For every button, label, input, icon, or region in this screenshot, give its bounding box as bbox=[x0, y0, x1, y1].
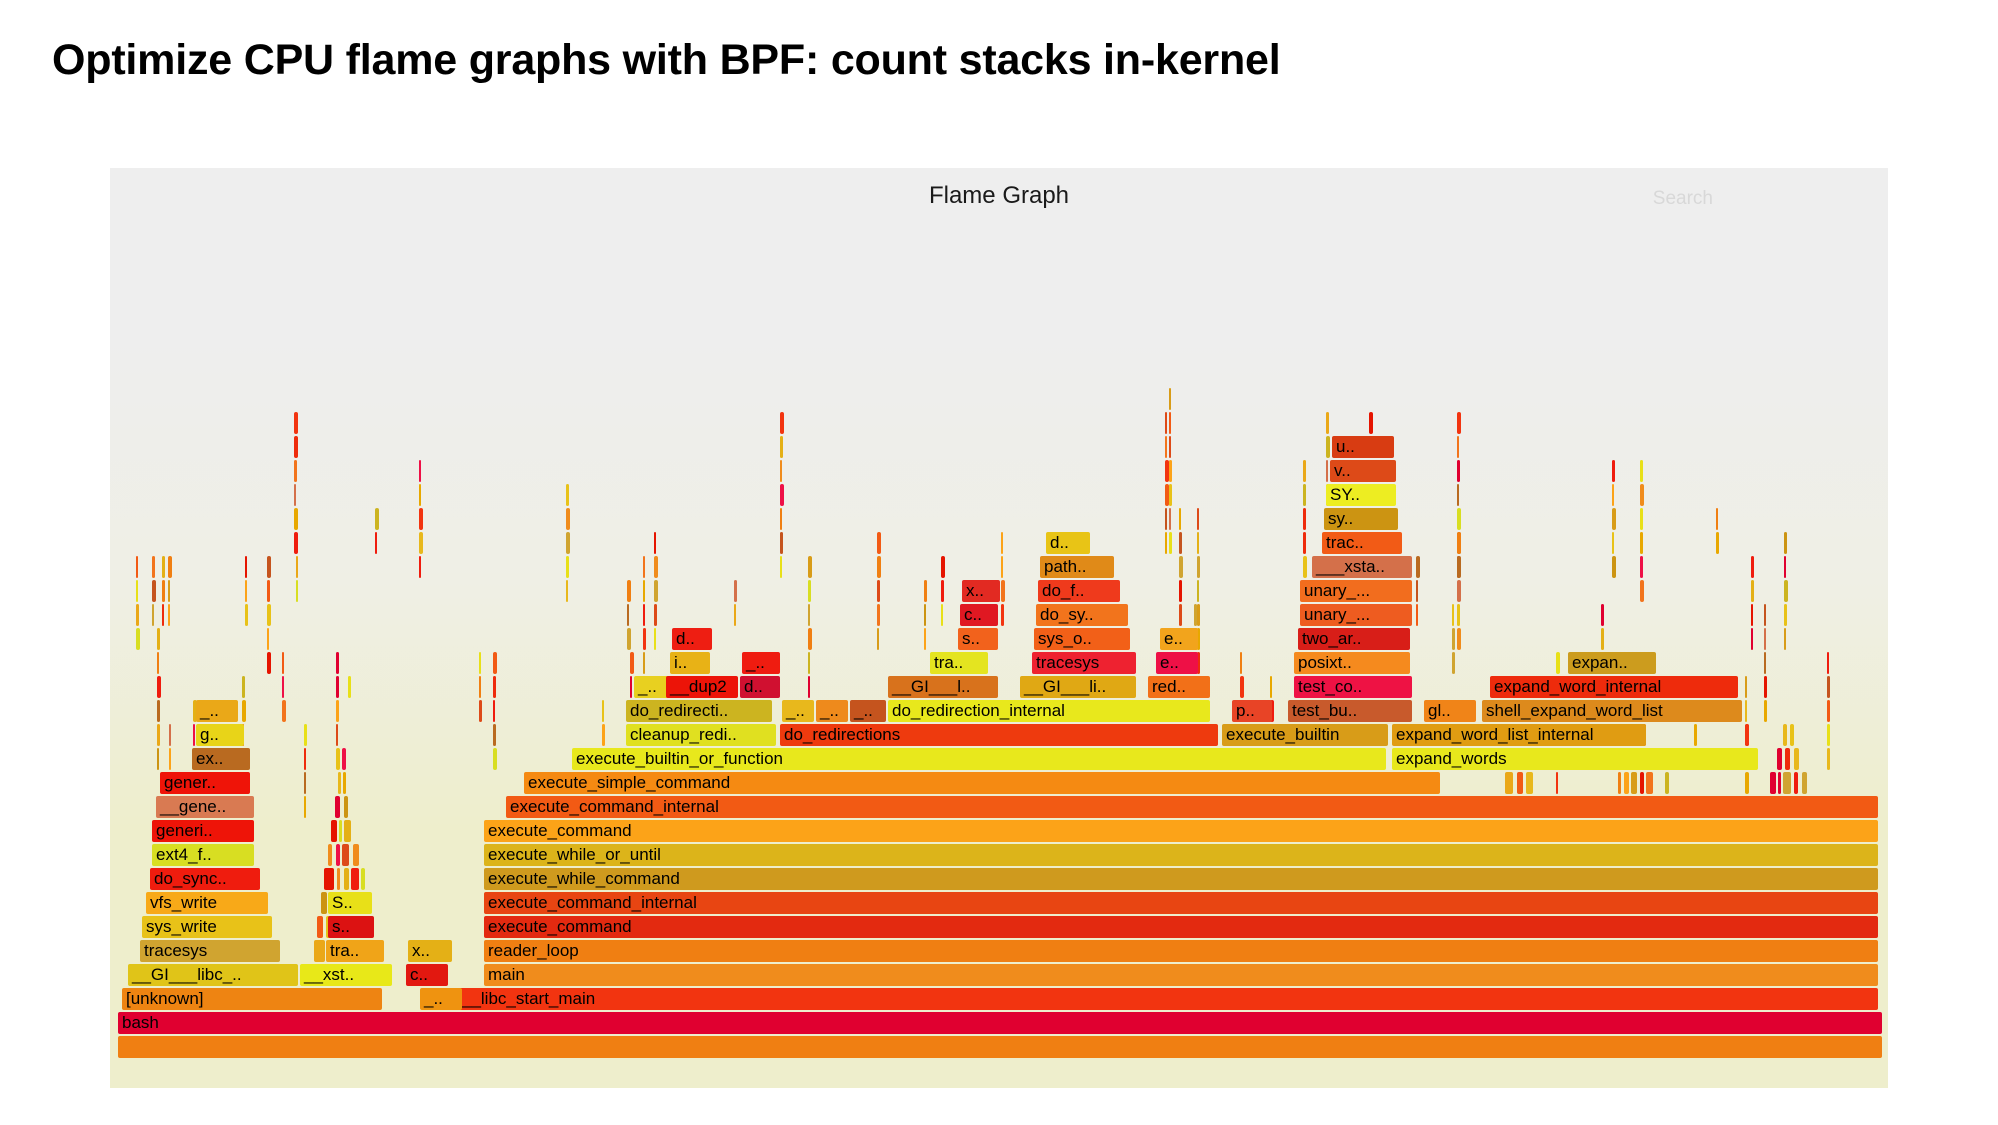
flame-frame-sliver[interactable] bbox=[877, 532, 881, 554]
flame-frame-sliver[interactable] bbox=[1169, 484, 1172, 506]
flame-frame-sliver[interactable] bbox=[627, 628, 631, 650]
flame-frame-sliver[interactable] bbox=[780, 484, 784, 506]
flame-frame-sliver[interactable] bbox=[479, 652, 481, 674]
flame-frame-sliver[interactable] bbox=[566, 508, 570, 530]
flame-frame-sliver[interactable] bbox=[1270, 676, 1272, 698]
flame-frame-sliver[interactable] bbox=[162, 580, 165, 602]
flame-frame-sliver[interactable] bbox=[1457, 628, 1461, 650]
flame-frame-sliver[interactable] bbox=[294, 412, 298, 434]
flame-frame-sliver[interactable] bbox=[1197, 604, 1200, 626]
flame-frame-sliver[interactable] bbox=[152, 604, 154, 626]
flame-frame-sliver[interactable] bbox=[1646, 772, 1653, 794]
flame-frame-sliver[interactable] bbox=[1556, 652, 1560, 674]
flame-frame[interactable]: tra.. bbox=[930, 652, 988, 674]
flame-frame-sliver[interactable] bbox=[336, 652, 339, 674]
flame-frame-sliver[interactable] bbox=[877, 604, 880, 626]
flame-frame-sliver[interactable] bbox=[1179, 556, 1183, 578]
flame-frame-sliver[interactable] bbox=[1640, 556, 1643, 578]
flame-frame-sliver[interactable] bbox=[1001, 604, 1004, 626]
flame-frame-sliver[interactable] bbox=[304, 796, 306, 818]
flame-frame[interactable]: c.. bbox=[406, 964, 448, 986]
flame-frame-sliver[interactable] bbox=[780, 460, 782, 482]
flame-frame[interactable]: execute_while_or_until bbox=[484, 844, 1878, 866]
flame-frame-sliver[interactable] bbox=[627, 580, 631, 602]
flame-frame-sliver[interactable] bbox=[419, 484, 421, 506]
flame-frame-sliver[interactable] bbox=[1751, 604, 1753, 626]
flame-frame-sliver[interactable] bbox=[602, 724, 605, 746]
flame-frame-sliver[interactable] bbox=[1612, 556, 1616, 578]
flame-frame-sliver[interactable] bbox=[136, 580, 138, 602]
flame-frame[interactable]: tracesys bbox=[1032, 652, 1136, 674]
flame-frame[interactable]: tra.. bbox=[326, 940, 384, 962]
flame-frame-sliver[interactable] bbox=[1745, 700, 1747, 722]
flame-frame-sliver[interactable] bbox=[294, 460, 297, 482]
flame-frame-sliver[interactable] bbox=[1303, 508, 1306, 530]
flame-frame-sliver[interactable] bbox=[336, 844, 340, 866]
flame-frame[interactable]: expand_word_internal bbox=[1490, 676, 1738, 698]
flame-frame-sliver[interactable] bbox=[282, 700, 286, 722]
flame-frame-sliver[interactable] bbox=[1169, 436, 1171, 458]
flame-frame-sliver[interactable] bbox=[1526, 772, 1533, 794]
flame-frame-sliver[interactable] bbox=[1665, 772, 1669, 794]
flame-frame-sliver[interactable] bbox=[566, 580, 568, 602]
flame-frame-sliver[interactable] bbox=[1303, 460, 1306, 482]
flame-frame-sliver[interactable] bbox=[1783, 772, 1791, 794]
flame-frame-sliver[interactable] bbox=[242, 676, 245, 698]
flame-frame-sliver[interactable] bbox=[168, 580, 170, 602]
flame-frame[interactable]: _.. bbox=[850, 700, 886, 722]
flame-frame-sliver[interactable] bbox=[1601, 628, 1604, 650]
flame-frame-sliver[interactable] bbox=[780, 412, 784, 434]
flame-frame-sliver[interactable] bbox=[344, 868, 349, 890]
flame-frame-sliver[interactable] bbox=[282, 676, 284, 698]
flame-frame-sliver[interactable] bbox=[734, 604, 736, 626]
flame-frame-sliver[interactable] bbox=[1770, 772, 1776, 794]
flame-frame-sliver[interactable] bbox=[1612, 484, 1614, 506]
flame-frame-sliver[interactable] bbox=[1001, 556, 1003, 578]
flame-frame-sliver[interactable] bbox=[1194, 604, 1197, 626]
flame-frame-sliver[interactable] bbox=[338, 772, 341, 794]
flame-frame-sliver[interactable] bbox=[1640, 484, 1644, 506]
flame-frame[interactable]: do_sy.. bbox=[1036, 604, 1128, 626]
flame-frame[interactable]: s.. bbox=[958, 628, 998, 650]
flame-frame[interactable]: unary_... bbox=[1300, 580, 1412, 602]
flame-frame[interactable]: sys_o.. bbox=[1034, 628, 1130, 650]
flame-frame-sliver[interactable] bbox=[493, 700, 495, 722]
flame-frame-sliver[interactable] bbox=[1764, 652, 1766, 674]
flame-frame-sliver[interactable] bbox=[336, 676, 339, 698]
flame-frame-sliver[interactable] bbox=[1165, 412, 1167, 434]
flame-frame[interactable]: c.. bbox=[960, 604, 998, 626]
flame-frame-sliver[interactable] bbox=[1745, 676, 1747, 698]
flame-frame[interactable]: main bbox=[484, 964, 1878, 986]
flame-frame-sliver[interactable] bbox=[419, 532, 423, 554]
flame-frame-sliver[interactable] bbox=[479, 700, 482, 722]
flame-frame-sliver[interactable] bbox=[654, 556, 658, 578]
flame-frame-sliver[interactable] bbox=[1179, 532, 1182, 554]
flame-frame-sliver[interactable] bbox=[1452, 604, 1454, 626]
flame-frame[interactable]: d.. bbox=[672, 628, 712, 650]
flame-frame-sliver[interactable] bbox=[282, 652, 284, 674]
flame-frame-sliver[interactable] bbox=[337, 868, 340, 890]
flame-frame-sliver[interactable] bbox=[267, 628, 269, 650]
flame-frame-sliver[interactable] bbox=[643, 652, 645, 674]
flame-frame-sliver[interactable] bbox=[877, 556, 881, 578]
flame-frame[interactable]: ex.. bbox=[192, 748, 250, 770]
flame-frame[interactable]: posixt.. bbox=[1294, 652, 1410, 674]
flame-frame-sliver[interactable] bbox=[1751, 628, 1753, 650]
flame-frame-sliver[interactable] bbox=[242, 700, 246, 722]
flame-frame-sliver[interactable] bbox=[339, 820, 342, 842]
flame-frame-sliver[interactable] bbox=[630, 676, 632, 698]
flame-frame-sliver[interactable] bbox=[1457, 412, 1461, 434]
flame-frame-sliver[interactable] bbox=[304, 772, 306, 794]
flame-frame-sliver[interactable] bbox=[1640, 532, 1643, 554]
flame-frame-sliver[interactable] bbox=[162, 604, 164, 626]
flame-frame-sliver[interactable] bbox=[168, 604, 170, 626]
flame-frame-sliver[interactable] bbox=[294, 532, 298, 554]
flame-frame-sliver[interactable] bbox=[493, 748, 497, 770]
flame-frame-sliver[interactable] bbox=[1416, 604, 1418, 626]
flame-frame-sliver[interactable] bbox=[924, 628, 926, 650]
flame-frame-sliver[interactable] bbox=[1640, 772, 1644, 794]
flame-frame[interactable]: do_redirecti.. bbox=[626, 700, 772, 722]
flame-frame-sliver[interactable] bbox=[1197, 508, 1199, 530]
flame-frame[interactable]: x.. bbox=[962, 580, 1000, 602]
flame-frame-sliver[interactable] bbox=[1457, 604, 1460, 626]
flame-frame-sliver[interactable] bbox=[294, 436, 298, 458]
flame-frame[interactable]: expan.. bbox=[1568, 652, 1656, 674]
flame-frame[interactable]: sys_write bbox=[142, 916, 272, 938]
flame-frame[interactable]: _.. bbox=[782, 700, 814, 722]
flame-frame-sliver[interactable] bbox=[1165, 436, 1167, 458]
flame-frame-sliver[interactable] bbox=[1612, 508, 1616, 530]
flame-frame-sliver[interactable] bbox=[157, 724, 160, 746]
flame-frame[interactable]: u.. bbox=[1332, 436, 1394, 458]
flame-frame-sliver[interactable] bbox=[1784, 604, 1787, 626]
flame-frame-sliver[interactable] bbox=[136, 604, 139, 626]
flame-frame-sliver[interactable] bbox=[1716, 532, 1719, 554]
flame-frame-sliver[interactable] bbox=[1179, 508, 1181, 530]
flame-frame[interactable]: reader_loop bbox=[484, 940, 1878, 962]
flame-frame-sliver[interactable] bbox=[1751, 580, 1754, 602]
flame-frame-sliver[interactable] bbox=[1240, 676, 1244, 698]
flame-frame-sliver[interactable] bbox=[1416, 580, 1418, 602]
flame-frame[interactable]: execute_while_command bbox=[484, 868, 1878, 890]
flame-frame[interactable]: ___xsta.. bbox=[1312, 556, 1412, 578]
flame-frame-sliver[interactable] bbox=[1179, 580, 1182, 602]
flame-frame-sliver[interactable] bbox=[1169, 532, 1172, 554]
flame-frame-sliver[interactable] bbox=[1457, 556, 1461, 578]
flame-frame-sliver[interactable] bbox=[1197, 580, 1199, 602]
flame-frame-sliver[interactable] bbox=[1785, 748, 1790, 770]
flame-frame-sliver[interactable] bbox=[351, 868, 359, 890]
flame-frame-sliver[interactable] bbox=[566, 532, 570, 554]
flame-frame-sliver[interactable] bbox=[941, 580, 944, 602]
flame-frame-sliver[interactable] bbox=[1827, 748, 1830, 770]
flame-frame-sliver[interactable] bbox=[1416, 556, 1420, 578]
flame-frame-sliver[interactable] bbox=[1517, 772, 1523, 794]
flame-frame-sliver[interactable] bbox=[294, 484, 296, 506]
flame-frame-sliver[interactable] bbox=[152, 556, 155, 578]
flame-frame[interactable]: execute_command bbox=[484, 916, 1878, 938]
flame-frame[interactable]: __GI___libc_.. bbox=[128, 964, 298, 986]
flame-frame-sliver[interactable] bbox=[336, 724, 338, 746]
flame-frame-sliver[interactable] bbox=[118, 1036, 1882, 1058]
flame-frame[interactable]: S.. bbox=[328, 892, 372, 914]
flame-frame-sliver[interactable] bbox=[1624, 772, 1629, 794]
flame-frame-sliver[interactable] bbox=[602, 700, 604, 722]
flame-frame[interactable]: do_redirection_internal bbox=[888, 700, 1210, 722]
flame-frame-sliver[interactable] bbox=[419, 508, 423, 530]
flame-frame[interactable]: expand_words bbox=[1392, 748, 1758, 770]
flame-frame[interactable]: execute_builtin_or_function bbox=[572, 748, 1386, 770]
flame-frame[interactable]: vfs_write bbox=[146, 892, 268, 914]
flame-frame-sliver[interactable] bbox=[169, 724, 171, 746]
flame-frame[interactable]: __libc_start_main bbox=[458, 988, 1878, 1010]
flame-frame[interactable]: do_f.. bbox=[1038, 580, 1120, 602]
flame-frame-sliver[interactable] bbox=[1457, 532, 1461, 554]
flame-frame-sliver[interactable] bbox=[1197, 556, 1200, 578]
flame-frame-sliver[interactable] bbox=[314, 940, 325, 962]
flame-frame[interactable]: sy.. bbox=[1324, 508, 1398, 530]
flame-frame[interactable]: __GI___li.. bbox=[1020, 676, 1136, 698]
flame-frame-sliver[interactable] bbox=[780, 532, 783, 554]
flame-frame-sliver[interactable] bbox=[1457, 436, 1459, 458]
flame-frame-sliver[interactable] bbox=[808, 580, 811, 602]
flame-frame-sliver[interactable] bbox=[361, 868, 365, 890]
flame-frame[interactable]: red.. bbox=[1148, 676, 1210, 698]
flame-frame-sliver[interactable] bbox=[493, 676, 496, 698]
flame-frame[interactable]: execute_builtin bbox=[1222, 724, 1388, 746]
flame-frame-sliver[interactable] bbox=[924, 604, 926, 626]
flame-frame-sliver[interactable] bbox=[1694, 724, 1697, 746]
flame-frame-sliver[interactable] bbox=[479, 676, 481, 698]
flame-frame-sliver[interactable] bbox=[780, 508, 782, 530]
flame-frame-sliver[interactable] bbox=[245, 556, 247, 578]
flame-frame-sliver[interactable] bbox=[1326, 412, 1329, 434]
flame-frame-sliver[interactable] bbox=[375, 532, 377, 554]
flame-frame-sliver[interactable] bbox=[643, 580, 645, 602]
flame-frame[interactable]: tracesys bbox=[140, 940, 280, 962]
flame-frame-sliver[interactable] bbox=[1784, 580, 1788, 602]
flame-frame[interactable]: do_redirections bbox=[780, 724, 1218, 746]
flame-frame-sliver[interactable] bbox=[294, 508, 298, 530]
flame-frame-sliver[interactable] bbox=[353, 844, 359, 866]
flame-frame-sliver[interactable] bbox=[267, 604, 271, 626]
flame-frame-sliver[interactable] bbox=[1618, 772, 1621, 794]
flame-frame-sliver[interactable] bbox=[1802, 772, 1807, 794]
flame-frame-sliver[interactable] bbox=[1457, 460, 1460, 482]
flame-frame-sliver[interactable] bbox=[1790, 724, 1794, 746]
flame-frame[interactable]: path.. bbox=[1040, 556, 1114, 578]
flame-frame-sliver[interactable] bbox=[808, 556, 812, 578]
flame-frame-sliver[interactable] bbox=[1777, 748, 1782, 770]
flame-frame[interactable]: __GI___l.. bbox=[888, 676, 998, 698]
flame-frame-sliver[interactable] bbox=[1169, 460, 1172, 482]
flame-frame[interactable]: [unknown] bbox=[122, 988, 382, 1010]
flame-frame[interactable]: _.. bbox=[420, 988, 462, 1010]
flame-frame[interactable]: cleanup_redi.. bbox=[626, 724, 776, 746]
flame-frame-sliver[interactable] bbox=[1240, 652, 1242, 674]
flame-frame-sliver[interactable] bbox=[941, 556, 945, 578]
flame-frame-sliver[interactable] bbox=[1326, 436, 1330, 458]
flame-frame-sliver[interactable] bbox=[419, 556, 421, 578]
flame-frame-sliver[interactable] bbox=[1640, 508, 1643, 530]
flame-frame-sliver[interactable] bbox=[1764, 628, 1766, 650]
flame-frame-sliver[interactable] bbox=[780, 556, 782, 578]
flame-frame-sliver[interactable] bbox=[1764, 676, 1767, 698]
flame-frame[interactable]: generi.. bbox=[152, 820, 254, 842]
flame-frame-sliver[interactable] bbox=[136, 628, 140, 650]
flame-frame-sliver[interactable] bbox=[1827, 676, 1830, 698]
flame-frame[interactable]: d.. bbox=[740, 676, 780, 698]
flame-frame[interactable]: SY.. bbox=[1326, 484, 1396, 506]
flame-frame-sliver[interactable] bbox=[1197, 532, 1199, 554]
flame-frame-sliver[interactable] bbox=[267, 556, 271, 578]
flame-frame-sliver[interactable] bbox=[643, 628, 646, 650]
flame-frame[interactable]: _.. bbox=[816, 700, 848, 722]
flame-frame[interactable]: gener.. bbox=[160, 772, 250, 794]
flame-frame-sliver[interactable] bbox=[419, 460, 421, 482]
flame-frame-sliver[interactable] bbox=[1169, 388, 1171, 410]
flame-frame-sliver[interactable] bbox=[296, 556, 298, 578]
flame-frame-sliver[interactable] bbox=[1827, 724, 1830, 746]
flame-frame-sliver[interactable] bbox=[493, 652, 497, 674]
flame-frame-sliver[interactable] bbox=[654, 604, 657, 626]
flame-frame-sliver[interactable] bbox=[1457, 580, 1461, 602]
flame-frame[interactable]: d.. bbox=[1046, 532, 1090, 554]
flame-frame-sliver[interactable] bbox=[808, 604, 810, 626]
flame-frame-sliver[interactable] bbox=[335, 796, 340, 818]
flame-frame-sliver[interactable] bbox=[321, 892, 327, 914]
flame-frame[interactable]: test_co.. bbox=[1294, 676, 1412, 698]
flame-frame[interactable]: execute_command bbox=[484, 820, 1878, 842]
flame-frame[interactable]: execute_simple_command bbox=[524, 772, 1440, 794]
flame-frame[interactable]: gl.. bbox=[1424, 700, 1476, 722]
flame-frame[interactable]: execute_command_internal bbox=[484, 892, 1878, 914]
flame-frame-sliver[interactable] bbox=[877, 580, 880, 602]
flame-frame-sliver[interactable] bbox=[348, 676, 351, 698]
flame-frame-sliver[interactable] bbox=[1751, 556, 1754, 578]
flame-frame-sliver[interactable] bbox=[1169, 508, 1171, 530]
flame-frame-sliver[interactable] bbox=[1303, 532, 1306, 554]
flame-frame-sliver[interactable] bbox=[331, 820, 337, 842]
flame-frame-sliver[interactable] bbox=[1745, 724, 1749, 746]
flame-frame-sliver[interactable] bbox=[654, 580, 658, 602]
flame-frame[interactable]: s.. bbox=[328, 916, 374, 938]
flame-frame-sliver[interactable] bbox=[1784, 532, 1787, 554]
flame-frame-sliver[interactable] bbox=[1745, 772, 1749, 794]
flame-frame-sliver[interactable] bbox=[1556, 772, 1558, 794]
flame-frame-sliver[interactable] bbox=[317, 916, 323, 938]
flame-frame-sliver[interactable] bbox=[493, 724, 496, 746]
flame-frame-sliver[interactable] bbox=[157, 700, 160, 722]
flame-frame[interactable]: __gene.. bbox=[156, 796, 254, 818]
flame-frame-sliver[interactable] bbox=[654, 532, 656, 554]
flame-frame-sliver[interactable] bbox=[1794, 772, 1798, 794]
flame-frame-sliver[interactable] bbox=[375, 508, 379, 530]
flame-frame-sliver[interactable] bbox=[877, 628, 879, 650]
flame-frame[interactable]: shell_expand_word_list bbox=[1482, 700, 1742, 722]
flame-frame-sliver[interactable] bbox=[1827, 700, 1830, 722]
flame-frame-sliver[interactable] bbox=[808, 652, 810, 674]
flame-frame-sliver[interactable] bbox=[1612, 460, 1615, 482]
flame-frame-sliver[interactable] bbox=[1612, 532, 1614, 554]
flame-frame-sliver[interactable] bbox=[152, 580, 156, 602]
flame-frame[interactable]: g.. bbox=[196, 724, 244, 746]
flame-frame-sliver[interactable] bbox=[1165, 532, 1167, 554]
flame-frame-sliver[interactable] bbox=[1764, 700, 1767, 722]
flame-frame-sliver[interactable] bbox=[304, 748, 306, 770]
flame-frame-sliver[interactable] bbox=[1303, 556, 1307, 578]
flame-frame-sliver[interactable] bbox=[245, 580, 247, 602]
flame-frame-sliver[interactable] bbox=[1784, 556, 1786, 578]
flame-frame-sliver[interactable] bbox=[780, 436, 783, 458]
flame-frame-sliver[interactable] bbox=[267, 580, 270, 602]
flame-frame-sliver[interactable] bbox=[324, 868, 334, 890]
flame-frame-sliver[interactable] bbox=[1457, 484, 1459, 506]
flame-frame-sliver[interactable] bbox=[734, 580, 737, 602]
flame-frame-sliver[interactable] bbox=[169, 748, 171, 770]
flame-frame-sliver[interactable] bbox=[157, 676, 161, 698]
flame-frame-sliver[interactable] bbox=[168, 556, 172, 578]
flame-frame-sliver[interactable] bbox=[1784, 628, 1786, 650]
flame-frame-sliver[interactable] bbox=[1457, 508, 1461, 530]
flame-frame[interactable]: v.. bbox=[1330, 460, 1396, 482]
flame-frame-sliver[interactable] bbox=[1169, 412, 1171, 434]
flame-frame-sliver[interactable] bbox=[1631, 772, 1637, 794]
flame-frame-sliver[interactable] bbox=[643, 604, 645, 626]
flame-frame[interactable]: two_ar.. bbox=[1298, 628, 1410, 650]
flame-frame-sliver[interactable] bbox=[1640, 460, 1643, 482]
flame-frame-sliver[interactable] bbox=[342, 844, 349, 866]
flame-frame-sliver[interactable] bbox=[157, 748, 159, 770]
flame-frame-sliver[interactable] bbox=[304, 724, 307, 746]
flame-frame-sliver[interactable] bbox=[1764, 604, 1766, 626]
flame-frame-sliver[interactable] bbox=[1452, 628, 1455, 650]
flame-frame[interactable]: do_sync.. bbox=[150, 868, 260, 890]
flame-frame-sliver[interactable] bbox=[344, 796, 348, 818]
flame-frame-sliver[interactable] bbox=[1505, 772, 1513, 794]
flame-frame-sliver[interactable] bbox=[627, 604, 629, 626]
flame-frame-sliver[interactable] bbox=[1783, 724, 1787, 746]
flame-frame-sliver[interactable] bbox=[654, 628, 656, 650]
flame-frame-sliver[interactable] bbox=[566, 484, 569, 506]
flame-frame[interactable]: _.. bbox=[742, 652, 780, 674]
flame-frame-sliver[interactable] bbox=[267, 652, 271, 674]
flame-frame[interactable]: trac.. bbox=[1322, 532, 1402, 554]
flame-frame[interactable]: unary_... bbox=[1300, 604, 1412, 626]
flame-frame[interactable]: __xst.. bbox=[300, 964, 392, 986]
flame-frame-sliver[interactable] bbox=[336, 700, 339, 722]
flame-frame[interactable]: execute_command_internal bbox=[506, 796, 1878, 818]
flame-frame[interactable]: test_bu.. bbox=[1288, 700, 1412, 722]
flame-frame-sliver[interactable] bbox=[1179, 604, 1182, 626]
flame-frame-sliver[interactable] bbox=[1452, 652, 1455, 674]
flame-frame-sliver[interactable] bbox=[343, 772, 346, 794]
flame-frame-sliver[interactable] bbox=[924, 580, 927, 602]
flame-frame-sliver[interactable] bbox=[1601, 604, 1604, 626]
flame-frame[interactable]: i.. bbox=[670, 652, 710, 674]
flame-frame-sliver[interactable] bbox=[328, 844, 332, 866]
flame-frame-sliver[interactable] bbox=[336, 748, 340, 770]
flame-frame-sliver[interactable] bbox=[1001, 532, 1003, 554]
flame-frame[interactable]: __dup2 bbox=[666, 676, 738, 698]
flame-frame-sliver[interactable] bbox=[1326, 460, 1328, 482]
flame-frame[interactable]: ext4_f.. bbox=[152, 844, 254, 866]
flame-frame-sliver[interactable] bbox=[1794, 748, 1799, 770]
